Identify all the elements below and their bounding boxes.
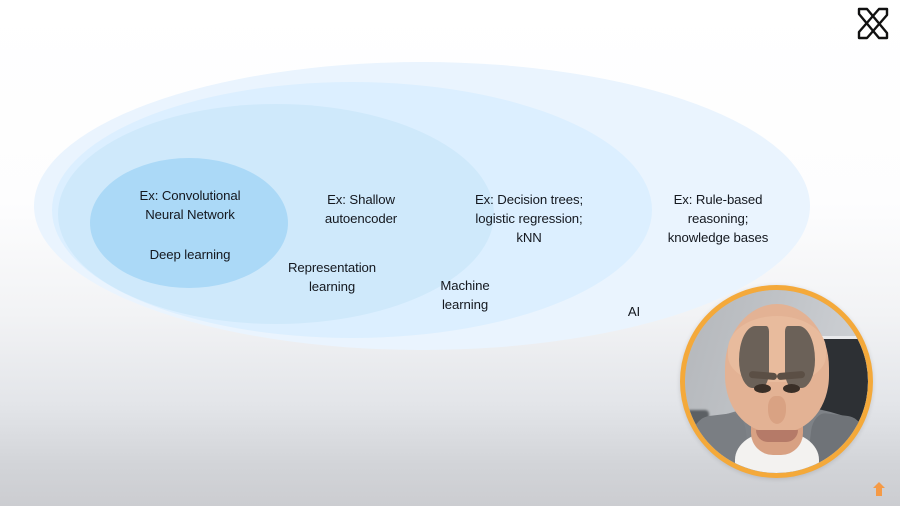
presenter-nose bbox=[768, 396, 786, 424]
representation-learning-examples: Ex: Shallow autoencoder bbox=[275, 190, 447, 228]
presenter-eye-left bbox=[783, 384, 800, 393]
ai-examples: Ex: Rule-based reasoning; knowledge base… bbox=[628, 190, 808, 247]
presenter-head bbox=[725, 304, 829, 432]
webcam-video bbox=[685, 290, 868, 473]
machine-learning-label: Machine learning bbox=[400, 276, 530, 314]
presenter-mouth bbox=[756, 430, 798, 442]
x-monogram-icon bbox=[859, 9, 887, 38]
presenter-eye-right bbox=[754, 384, 771, 393]
presenter-webcam bbox=[680, 285, 873, 478]
orange-arrow-up-icon[interactable] bbox=[870, 480, 888, 498]
representation-learning-label: Representation learning bbox=[255, 258, 409, 296]
ai-label: AI bbox=[596, 302, 672, 321]
deep-learning-examples: Ex: Convolutional Neural Network bbox=[90, 186, 290, 224]
channel-logo bbox=[855, 5, 891, 41]
machine-learning-examples: Ex: Decision trees; logistic regression;… bbox=[438, 190, 620, 247]
video-frame: Ex: Convolutional Neural Network Deep le… bbox=[0, 0, 900, 506]
